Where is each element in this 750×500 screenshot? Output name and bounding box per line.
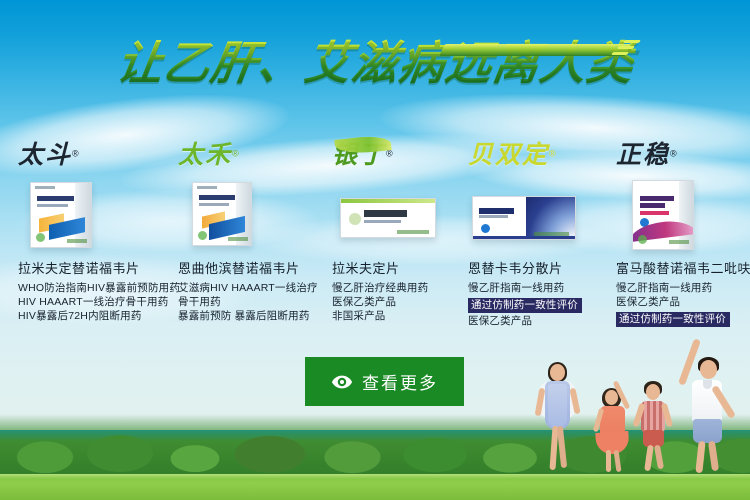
product-image: [616, 180, 750, 252]
brand-logo: 太禾®: [178, 140, 332, 174]
figure-mother: [536, 364, 580, 472]
brand-logo: 太斗®: [18, 140, 176, 174]
brand-logo: 贝双定®: [468, 140, 602, 174]
medicine-box-icon: [632, 180, 694, 250]
product-card[interactable]: 太斗® 拉米夫定替诺福韦片 WHO防治指南HIV暴露前预防用药 HIV HAAA…: [0, 140, 176, 328]
product-name: 富马酸替诺福韦二吡呋酯片: [616, 260, 750, 278]
product-feature: 暴露前预防 暴露后阻断用药: [178, 309, 332, 323]
family-scene: [0, 330, 750, 490]
figure-girl: [594, 382, 634, 474]
consistency-evaluation-badge: 通过仿制药一致性评价: [616, 312, 730, 327]
headline-text: 让乙肝、艾滋病远离人类: [112, 32, 638, 94]
product-feature-list: 慢乙肝指南一线用药 医保乙类产品 通过仿制药一致性评价: [616, 281, 750, 328]
banner-headline: 让乙肝、艾滋病远离人类: [0, 32, 750, 102]
product-feature: 骨干用药: [178, 295, 332, 309]
product-name: 恩曲他滨替诺福韦片: [178, 260, 332, 278]
product-name: 拉米夫定片: [332, 260, 460, 278]
product-feature: 非国采产品: [332, 309, 460, 323]
product-feature: 艾滋病HIV HAAART一线治疗: [178, 281, 332, 295]
product-feature: HIV HAAART一线治疗骨干用药: [18, 295, 176, 309]
product-feature-list: 慢乙肝治疗经典用药 医保乙类产品 非国采产品: [332, 281, 460, 323]
product-card[interactable]: 银丁® 拉米夫定片 慢乙肝治疗经典用药 医保乙类产品 非国采产品: [332, 140, 460, 328]
product-card[interactable]: 太禾® 恩曲他滨替诺福韦片 艾滋病HIV HAAART一线治疗 骨干用药 暴露前…: [176, 140, 332, 328]
figure-boy: [634, 376, 676, 472]
product-feature-list: WHO防治指南HIV暴露前预防用药 HIV HAAART一线治疗骨干用药 HIV…: [18, 281, 176, 323]
product-card[interactable]: 贝双定® 恩替卡韦分散片 慢乙肝指南一线用药 通过仿制药一致性评价 医保乙类产品: [460, 140, 602, 328]
banner-root: 让乙肝、艾滋病远离人类 太斗® 拉米夫定替诺福韦片 WHO防治指南HIV暴露: [0, 0, 750, 500]
medicine-box-icon: [472, 196, 576, 240]
product-image: [332, 180, 460, 252]
product-image: [18, 180, 176, 252]
product-feature: 慢乙肝指南一线用药: [468, 281, 602, 295]
product-name: 拉米夫定替诺福韦片: [18, 260, 176, 278]
product-feature: 慢乙肝治疗经典用药: [332, 281, 460, 295]
medicine-box-icon: [30, 182, 92, 248]
product-feature: 慢乙肝指南一线用药: [616, 281, 750, 295]
brand-logo: 正稳®: [616, 140, 750, 174]
product-list: 太斗® 拉米夫定替诺福韦片 WHO防治指南HIV暴露前预防用药 HIV HAAA…: [0, 140, 750, 328]
medicine-box-icon: [192, 182, 252, 246]
registered-mark-icon: ®: [72, 149, 79, 159]
brand-logo: 银丁®: [332, 140, 460, 174]
product-card[interactable]: 正稳® 富马酸替诺福韦二吡呋酯片 慢乙肝指南一线用药 医保乙类产品 通过仿制药一…: [602, 140, 750, 328]
brand-name: 正稳: [616, 140, 670, 169]
product-image: [178, 180, 332, 252]
product-feature: 医保乙类产品: [332, 295, 460, 309]
registered-mark-icon: ®: [232, 149, 239, 159]
headline-speed-streaks: [598, 40, 640, 62]
product-feature-list: 慢乙肝指南一线用药 通过仿制药一致性评价 医保乙类产品: [468, 281, 602, 328]
medicine-box-icon: [340, 198, 436, 238]
product-feature: 医保乙类产品: [616, 295, 750, 309]
product-name: 恩替卡韦分散片: [468, 260, 602, 278]
registered-mark-icon: ®: [670, 149, 677, 159]
figure-father: [676, 342, 734, 474]
brand-name: 太禾: [178, 140, 232, 169]
product-feature: WHO防治指南HIV暴露前预防用药: [18, 281, 176, 295]
registered-mark-icon: ®: [549, 149, 556, 159]
product-image: [468, 180, 602, 252]
brand-name: 贝双定: [468, 140, 549, 169]
product-feature: HIV暴露后72H内阻断用药: [18, 309, 176, 323]
consistency-evaluation-badge: 通过仿制药一致性评价: [468, 298, 582, 313]
product-feature: 医保乙类产品: [468, 314, 602, 328]
product-feature-list: 艾滋病HIV HAAART一线治疗 骨干用药 暴露前预防 暴露后阻断用药: [178, 281, 332, 323]
brand-name: 太斗: [18, 140, 72, 169]
